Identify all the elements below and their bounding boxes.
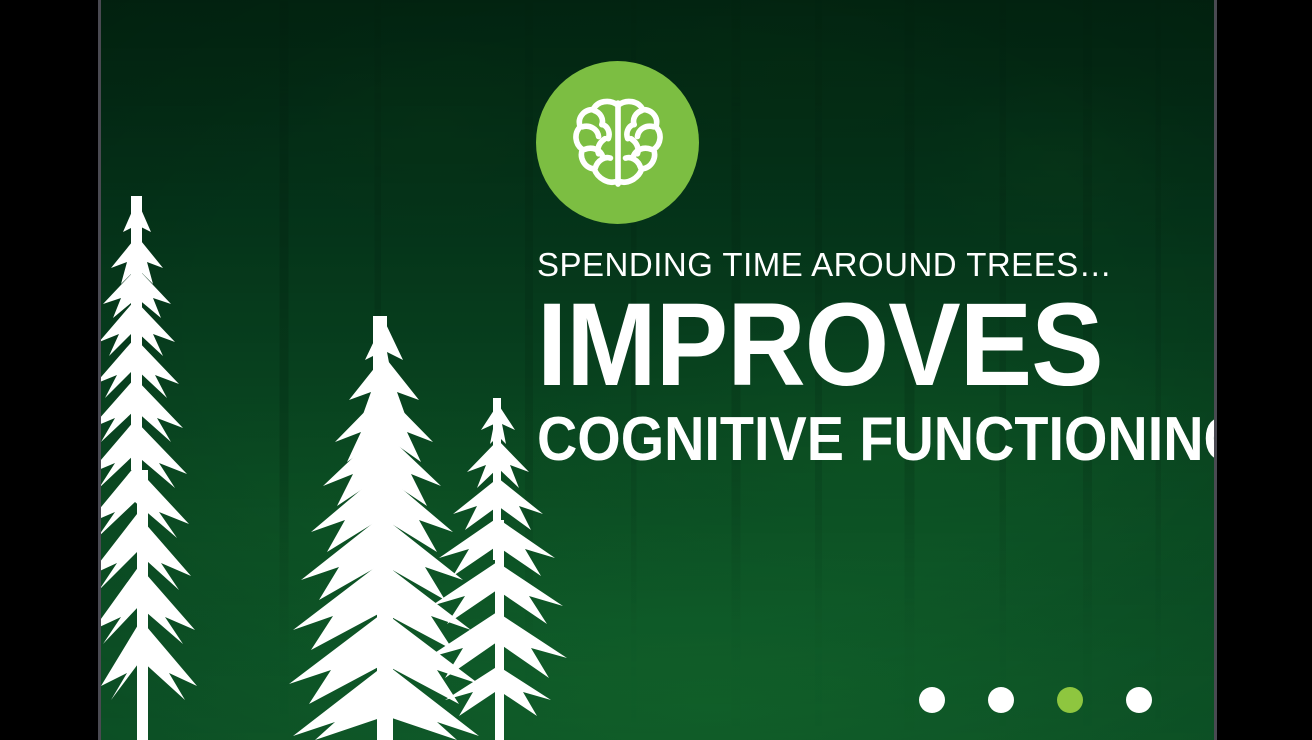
slide-edge-left bbox=[98, 0, 101, 740]
brain-icon bbox=[564, 89, 672, 197]
headline-text: IMPROVES bbox=[537, 293, 1144, 397]
pagination-dot-4[interactable] bbox=[1126, 687, 1152, 713]
tree-center bbox=[289, 316, 479, 740]
letterbox-left bbox=[0, 0, 98, 740]
slide-viewer: SPENDING TIME AROUND TREES… IMPROVES COG… bbox=[0, 0, 1312, 740]
pagination-dot-3[interactable] bbox=[1057, 687, 1083, 713]
subhead-text: COGNITIVE FUNCTIONING bbox=[537, 407, 1131, 473]
pagination-dots[interactable] bbox=[919, 687, 1152, 713]
letterbox-right bbox=[1217, 0, 1312, 740]
headline-block: SPENDING TIME AROUND TREES… IMPROVES COG… bbox=[537, 243, 1197, 473]
pagination-dot-1[interactable] bbox=[919, 687, 945, 713]
slide-canvas: SPENDING TIME AROUND TREES… IMPROVES COG… bbox=[101, 0, 1217, 740]
slide-edge-right bbox=[1214, 0, 1217, 740]
tree-left bbox=[101, 196, 197, 740]
pagination-dot-2[interactable] bbox=[988, 687, 1014, 713]
brain-badge bbox=[536, 61, 699, 224]
